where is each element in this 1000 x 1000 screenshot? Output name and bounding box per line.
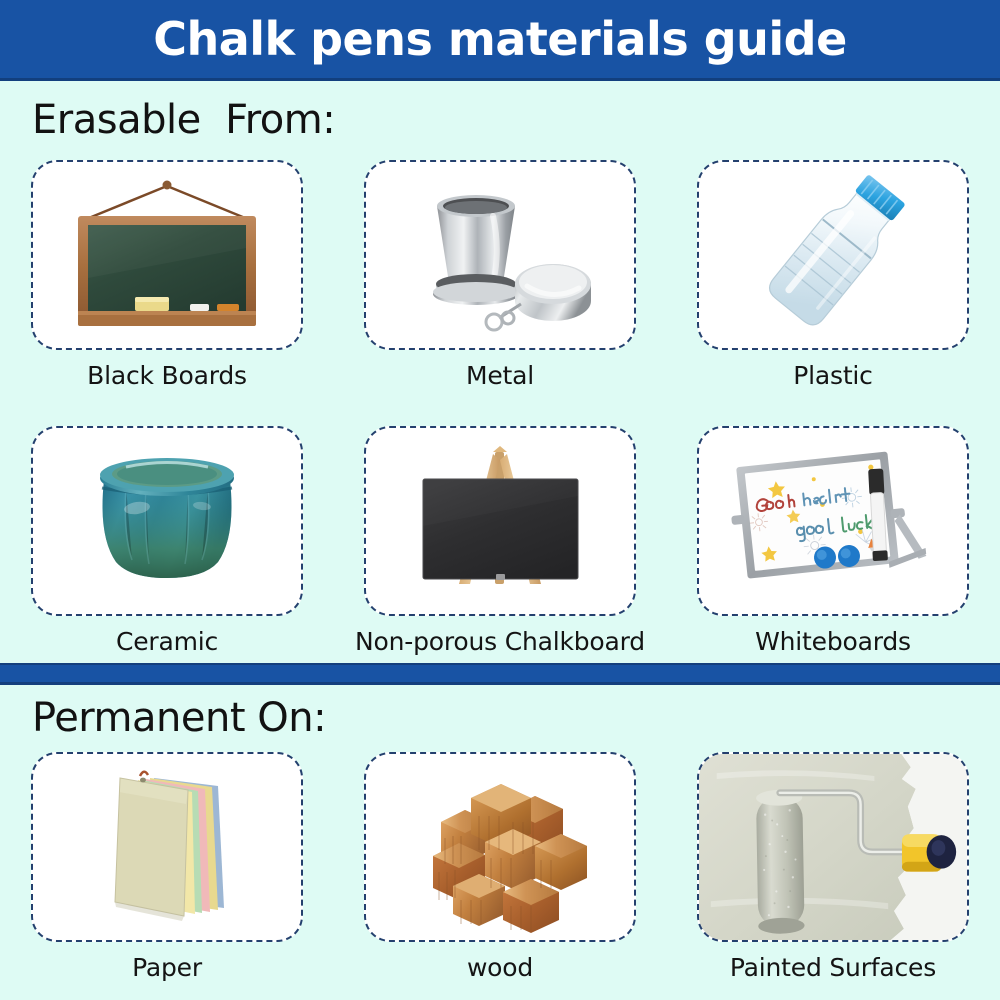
- material-card-plastic: [697, 160, 969, 350]
- material-label: Non-porous Chalkboard: [355, 629, 645, 654]
- section-heading-permanent: Permanent On:: [32, 698, 326, 738]
- material-cell-metal: Metal: [334, 160, 667, 388]
- paper-stack-icon: [42, 760, 292, 935]
- material-label: Whiteboards: [755, 629, 911, 654]
- material-label: Black Boards: [87, 363, 247, 388]
- material-cell-plastic: Plastic: [667, 160, 1000, 388]
- wood-blocks-icon: [375, 760, 625, 935]
- material-cell-wood: wood: [334, 752, 667, 980]
- material-card-wood: [364, 752, 636, 942]
- material-label: Paper: [132, 955, 202, 980]
- material-label: Ceramic: [116, 629, 218, 654]
- material-label: wood: [467, 955, 533, 980]
- material-card-ceramic: [31, 426, 303, 616]
- material-label: Painted Surfaces: [730, 955, 936, 980]
- material-card-black-boards: [31, 160, 303, 350]
- material-cell-black-boards: Black Boards: [1, 160, 334, 388]
- material-cell-ceramic: Ceramic: [1, 426, 334, 654]
- blackboard-icon: [42, 168, 292, 343]
- material-cell-whiteboards: Whiteboards: [667, 426, 1000, 654]
- page-title: Chalk pens materials guide: [153, 16, 847, 62]
- material-cell-painted-surfaces: Painted Surfaces: [667, 752, 1000, 980]
- material-cell-chalkboard: Non-porous Chalkboard: [334, 426, 667, 654]
- paint-roller-icon: [699, 752, 967, 942]
- material-label: Metal: [466, 363, 534, 388]
- material-card-chalkboard: [364, 426, 636, 616]
- plastic-bottle-icon: [708, 168, 958, 343]
- section-divider-bar: [0, 663, 1000, 685]
- header-bar: Chalk pens materials guide: [0, 0, 1000, 81]
- chalkboard-easel-icon: [375, 434, 625, 609]
- metal-cup-icon: [375, 168, 625, 343]
- material-card-paper: [31, 752, 303, 942]
- whiteboard-icon: [708, 434, 958, 609]
- material-label: Plastic: [793, 363, 872, 388]
- material-card-metal: [364, 160, 636, 350]
- section-heading-erasable: Erasable From:: [32, 100, 335, 140]
- ceramic-pot-icon: [42, 434, 292, 609]
- material-card-whiteboards: [697, 426, 969, 616]
- permanent-materials-grid: Paper: [0, 752, 1000, 980]
- material-card-painted-surfaces: [697, 752, 969, 942]
- material-cell-paper: Paper: [1, 752, 334, 980]
- erasable-materials-grid: Black Boards: [0, 160, 1000, 654]
